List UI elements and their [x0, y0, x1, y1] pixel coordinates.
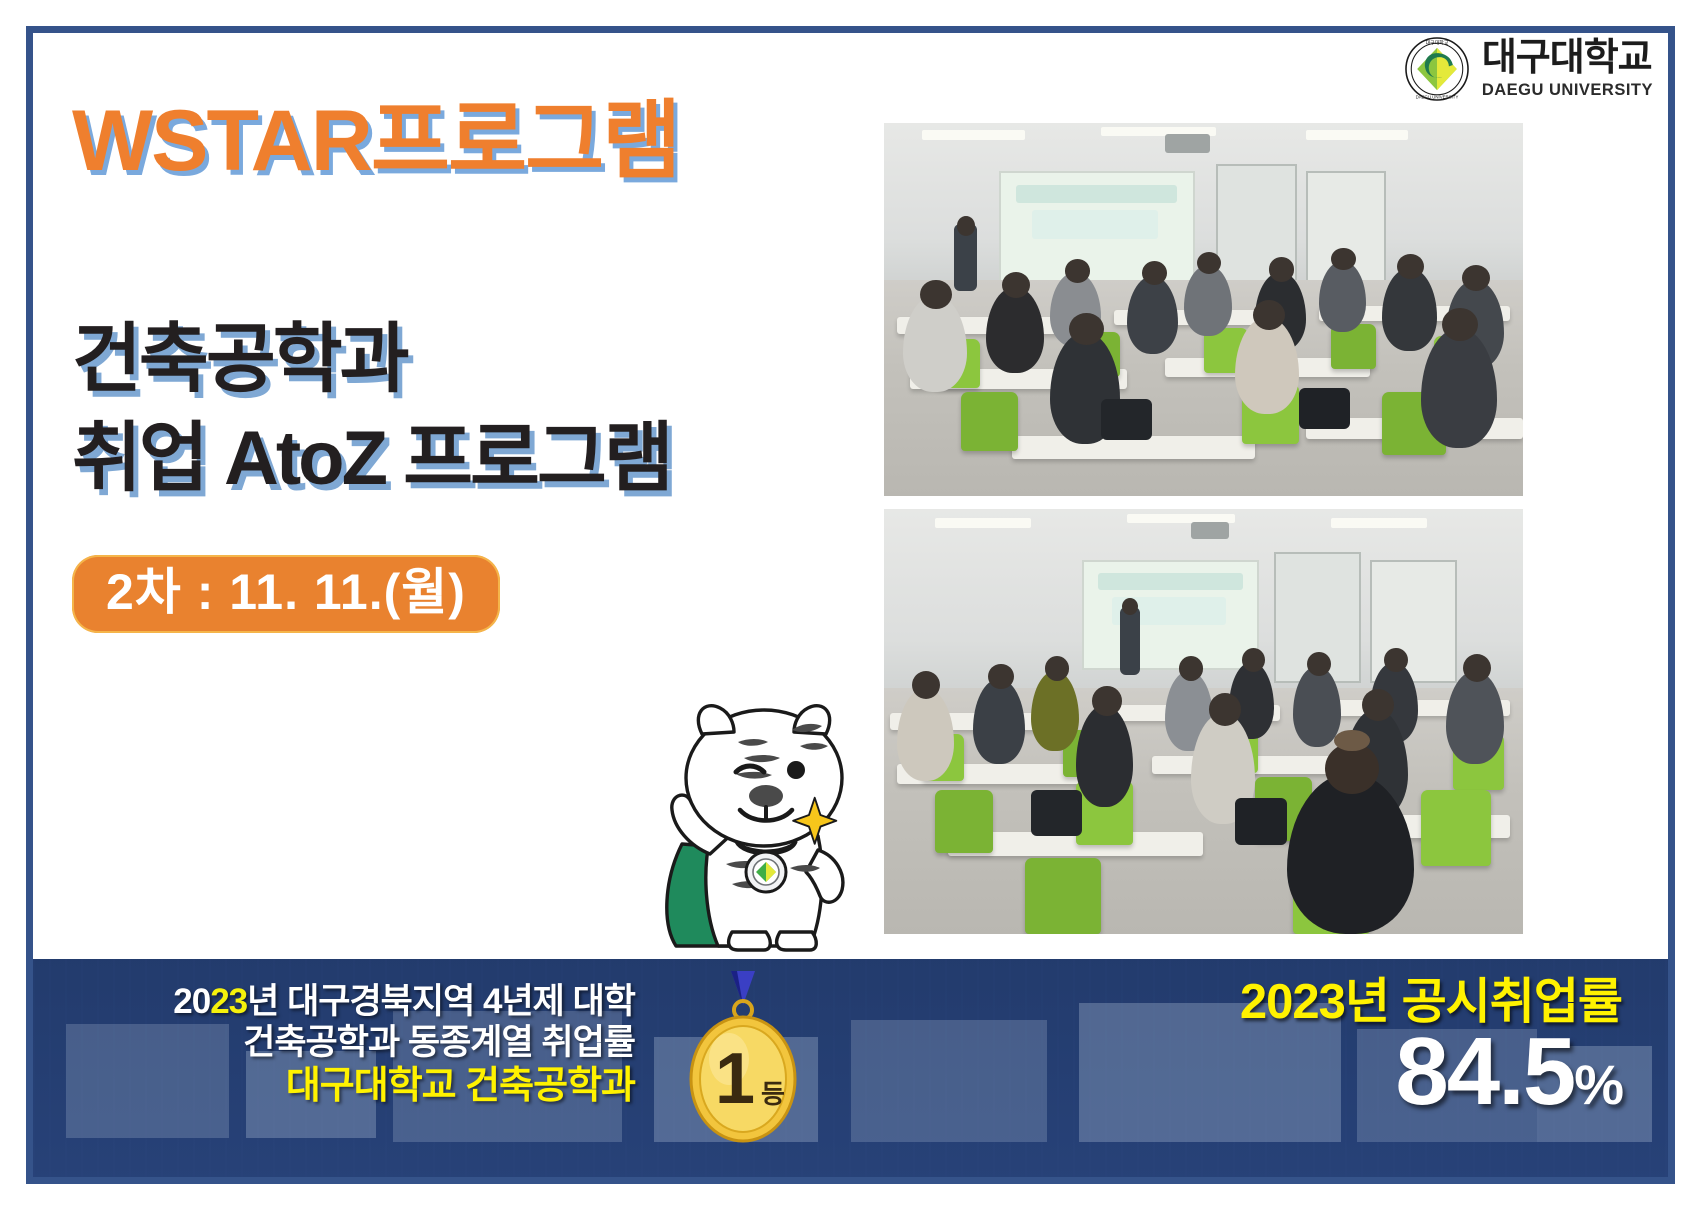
- date-badge: 2차 : 11. 11.(월): [72, 555, 500, 633]
- achievement-banner: 2023년 대구경북지역 4년제 대학 건축공학과 동종계열 취업률 대구대학교…: [33, 959, 1668, 1177]
- lecture-hall-photo-bottom: [884, 509, 1523, 934]
- poster-root: 대구대학교 DAEGU UNIVERSITY 대구대학교 DAEGU UNIVE…: [0, 0, 1701, 1210]
- department-heading-block: 건축공학과 취업 AtoZ 프로그램: [72, 311, 862, 509]
- university-logo: 대구대학교 DAEGU UNIVERSITY 대구대학교 DAEGU UNIVE…: [1404, 36, 1653, 102]
- gold-medal-icon: 1 등: [673, 971, 813, 1151]
- logo-name-en: DAEGU UNIVERSITY: [1482, 82, 1653, 99]
- banner-left-text: 2023년 대구경북지역 4년제 대학 건축공학과 동종계열 취업률 대구대학교…: [75, 981, 635, 1108]
- logo-name-ko: 대구대학교: [1482, 39, 1653, 77]
- left-content-column: WSTAR프로그램 건축공학과 취업 AtoZ 프로그램 2차 : 11. 11…: [72, 96, 862, 633]
- svg-text:1: 1: [715, 1039, 755, 1119]
- banner-line-2: 건축공학과 동종계열 취업률: [75, 1022, 635, 1063]
- daegu-university-emblem-icon: 대구대학교 DAEGU UNIVERSITY: [1404, 36, 1470, 102]
- banner-line-1: 2023년 대구경북지역 4년제 대학: [75, 981, 635, 1022]
- employment-rate-value: 84.5%: [1240, 1024, 1622, 1120]
- white-tiger-mascot-icon: [640, 668, 870, 956]
- banner-line-3: 대구대학교 건축공학과: [75, 1064, 635, 1109]
- dept-line-2: 취업 AtoZ 프로그램: [72, 410, 862, 509]
- projector-screen: [1082, 560, 1259, 670]
- program-title: WSTAR프로그램: [72, 96, 862, 186]
- lecture-hall-photo-top: [884, 123, 1523, 496]
- svg-text:DAEGU UNIVERSITY: DAEGU UNIVERSITY: [1415, 95, 1458, 100]
- dept-line-1: 건축공학과: [72, 311, 862, 410]
- svg-text:등: 등: [761, 1079, 785, 1109]
- banner-right-stats: 2023년 공시취업률 84.5%: [1240, 977, 1622, 1120]
